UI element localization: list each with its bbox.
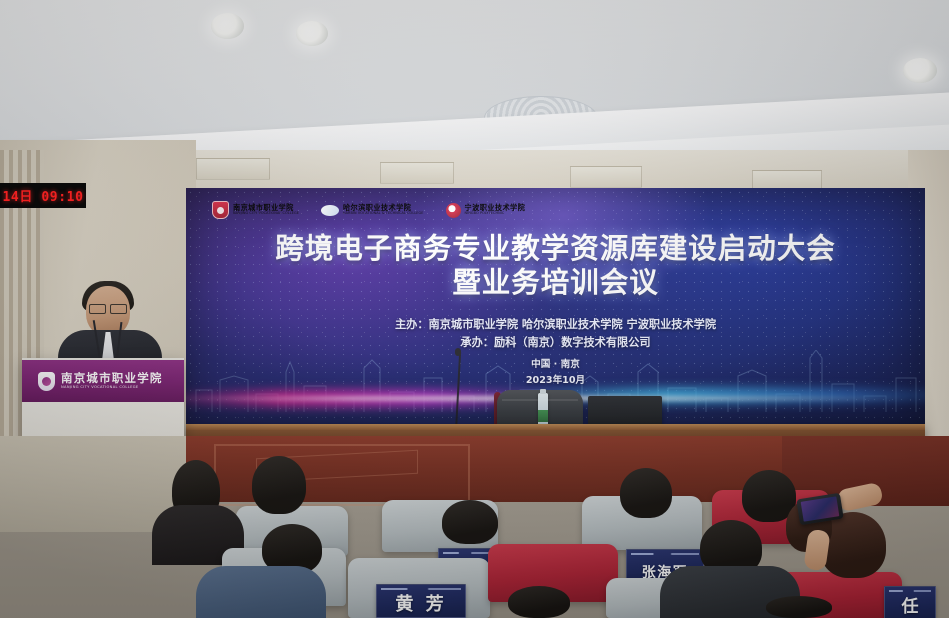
logo-nanjing: 南京城市职业学院 NANJING CITY VOCATIONAL COLLEGE [212, 201, 299, 219]
swoosh-emblem-icon [321, 205, 339, 216]
circle-emblem-icon [446, 203, 461, 218]
name-placard: 任 [884, 586, 936, 618]
event-title-line1: 跨境电子商务专业教学资源库建设启动大会 [186, 232, 925, 266]
coorganizer-line: 承办：励科（南京）数字技术有限公司 [186, 334, 925, 352]
stage-microphone-icon [455, 348, 461, 356]
event-date: 2023年10月 [186, 373, 925, 389]
audience-head [442, 500, 498, 544]
event-location: 中国 · 南京 [186, 357, 925, 373]
logo-ningbo: 宁波职业技术学院 NINGBO POLYTECHNIC [446, 203, 526, 218]
event-title-line2: 暨业务培训会议 [186, 266, 925, 300]
audience-head [508, 586, 570, 618]
college-shield-icon [38, 372, 55, 391]
organizer-line: 主办：南京城市职业学院 哈尔滨职业技术学院 宁波职业技术学院 [186, 316, 925, 334]
logo-ningbo-text: 宁波职业技术学院 NINGBO POLYTECHNIC [465, 204, 526, 216]
wall-acoustic-panel [196, 158, 270, 180]
wall-acoustic-panel [570, 166, 642, 188]
logo-ningbo-en: NINGBO POLYTECHNIC [465, 212, 526, 216]
audience-head [252, 456, 306, 514]
podium-banner-text: 南京城市职业学院 NANJING CITY VOCATIONAL COLLEGE [61, 372, 163, 390]
shield-emblem-icon [212, 201, 229, 219]
audience-torso [196, 566, 326, 618]
event-title: 跨境电子商务专业教学资源库建设启动大会 暨业务培训会议 [186, 232, 925, 301]
podium-name-cn: 南京城市职业学院 [61, 372, 163, 385]
ceiling-downlight-icon [296, 21, 328, 46]
podium-banner: 南京城市职业学院 NANJING CITY VOCATIONAL COLLEGE [22, 360, 184, 402]
location-date-block: 中国 · 南京 2023年10月 [186, 357, 925, 388]
screen-logo-row: 南京城市职业学院 NANJING CITY VOCATIONAL COLLEGE… [212, 201, 525, 219]
name-placard: 黄 芳 [376, 584, 466, 618]
logo-harbin-en: HARBIN VOCATIONAL & TECHNICAL COLLEGE [343, 212, 424, 216]
logo-harbin: 哈尔滨职业技术学院 HARBIN VOCATIONAL & TECHNICAL … [321, 204, 424, 216]
ceiling-downlight-icon [211, 13, 244, 39]
glasses-icon [89, 304, 127, 312]
audience-head [766, 596, 832, 618]
podium-name-en: NANJING CITY VOCATIONAL COLLEGE [61, 386, 163, 390]
organizer-block: 主办：南京城市职业学院 哈尔滨职业技术学院 宁波职业技术学院 承办：励科（南京）… [186, 316, 925, 351]
logo-nanjing-text: 南京城市职业学院 NANJING CITY VOCATIONAL COLLEGE [233, 204, 299, 216]
placard-name: 黄 芳 [395, 596, 446, 617]
logo-nanjing-en: NANJING CITY VOCATIONAL COLLEGE [233, 212, 299, 216]
ceiling-downlight-icon [903, 58, 937, 83]
conference-hall-photo: 南京城市职业学院 NANJING CITY VOCATIONAL COLLEGE… [0, 0, 949, 618]
wall-acoustic-panel [380, 162, 454, 184]
placard-name: 任 [902, 599, 919, 618]
timestamp-overlay: 14日 09:10 [0, 183, 86, 208]
timestamp-text: 14日 09:10 [2, 186, 83, 205]
audience-head [620, 468, 672, 518]
logo-harbin-text: 哈尔滨职业技术学院 HARBIN VOCATIONAL & TECHNICAL … [343, 204, 424, 216]
